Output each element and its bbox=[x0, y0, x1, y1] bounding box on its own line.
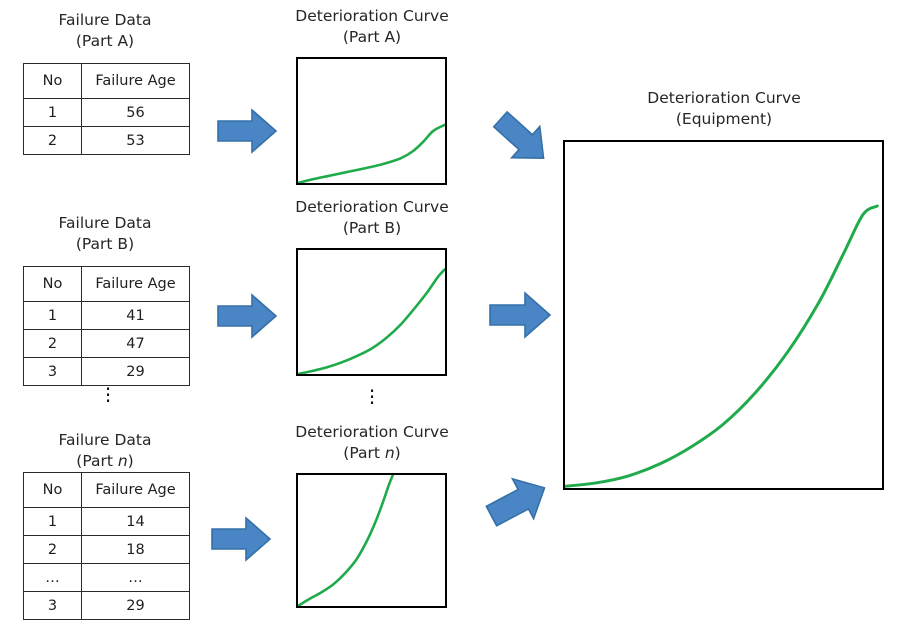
curve-part-a-plot bbox=[298, 59, 445, 183]
cell-no: 3 bbox=[24, 592, 82, 620]
deterioration-curve-equipment-chart bbox=[563, 140, 884, 490]
table-row: 1 56 bbox=[24, 99, 190, 127]
caption-line-2: (Part A) bbox=[23, 31, 187, 52]
caption-line-1: Failure Data bbox=[59, 431, 152, 449]
caption-part-index: n bbox=[118, 452, 128, 470]
column-header-no: No bbox=[24, 267, 82, 302]
vertical-ellipsis-charts: · · · bbox=[352, 388, 392, 406]
table-row: 2 47 bbox=[24, 330, 190, 358]
ellipsis-dot: · bbox=[88, 398, 128, 404]
caption-line-1: Deterioration Curve bbox=[295, 423, 448, 441]
column-header-no: No bbox=[24, 473, 82, 508]
deterioration-curve-line bbox=[298, 475, 393, 606]
cell-age: 14 bbox=[82, 508, 190, 536]
table-row: 2 53 bbox=[24, 127, 190, 155]
arrow-curve-part-a-to-equipment bbox=[487, 110, 553, 172]
curve-part-b-plot bbox=[298, 250, 445, 374]
caption-line-2: (Part A) bbox=[286, 27, 458, 48]
cell-no: 3 bbox=[24, 358, 82, 386]
cell-age: 41 bbox=[82, 302, 190, 330]
arrow-curve-part-b-to-equipment bbox=[487, 290, 553, 340]
failure-data-part-b-caption: Failure Data (Part B) bbox=[23, 213, 187, 255]
column-header-failure-age: Failure Age bbox=[82, 267, 190, 302]
cell-no: 1 bbox=[24, 508, 82, 536]
arrow-part-b-table-to-curve bbox=[216, 293, 278, 339]
caption-part-index: n bbox=[385, 444, 395, 462]
caption-part-prefix: (Part bbox=[343, 444, 385, 462]
cell-age: 56 bbox=[82, 99, 190, 127]
vertical-ellipsis-tables: · · · bbox=[88, 386, 128, 404]
curve-equipment-plot bbox=[565, 142, 882, 488]
failure-data-table-part-b: No Failure Age 1 41 2 47 3 29 bbox=[23, 266, 190, 386]
table-header-row: No Failure Age bbox=[24, 473, 190, 508]
table-row: 3 29 bbox=[24, 592, 190, 620]
failure-data-table-part-n: No Failure Age 1 14 2 18 … … 3 29 bbox=[23, 472, 190, 620]
table-row: 2 18 bbox=[24, 536, 190, 564]
cell-no: 2 bbox=[24, 127, 82, 155]
cell-no: … bbox=[24, 564, 82, 592]
arrow-part-n-table-to-curve bbox=[210, 516, 272, 562]
caption-line-1: Deterioration Curve bbox=[647, 89, 800, 107]
curve-part-a-caption: Deterioration Curve (Part A) bbox=[286, 6, 458, 48]
ellipsis-dot: · bbox=[352, 400, 392, 406]
curve-part-b-caption: Deterioration Curve (Part B) bbox=[286, 197, 458, 239]
caption-line-1: Deterioration Curve bbox=[295, 7, 448, 25]
deterioration-curve-part-a-chart bbox=[296, 57, 447, 185]
table-row: 1 41 bbox=[24, 302, 190, 330]
failure-data-part-a-group: Failure Data (Part A) bbox=[23, 10, 187, 52]
caption-line-1: Failure Data bbox=[59, 214, 152, 232]
cell-no: 2 bbox=[24, 330, 82, 358]
failure-data-part-n-group: Failure Data (Part n) bbox=[23, 430, 187, 472]
caption-line-2: (Equipment) bbox=[638, 109, 810, 130]
caption-line-1: Deterioration Curve bbox=[295, 198, 448, 216]
arrow-curve-part-n-to-equipment bbox=[484, 472, 552, 532]
failure-data-part-a-caption: Failure Data (Part A) bbox=[23, 10, 187, 52]
caption-line-1: Failure Data bbox=[59, 11, 152, 29]
deterioration-curve-part-b-chart bbox=[296, 248, 447, 376]
cell-age: … bbox=[82, 564, 190, 592]
caption-part-suffix: ) bbox=[395, 444, 401, 462]
deterioration-curve-part-n-chart bbox=[296, 473, 447, 608]
table-header-row: No Failure Age bbox=[24, 64, 190, 99]
table-row: … … bbox=[24, 564, 190, 592]
cell-age: 18 bbox=[82, 536, 190, 564]
column-header-failure-age: Failure Age bbox=[82, 64, 190, 99]
table-header-row: No Failure Age bbox=[24, 267, 190, 302]
caption-line-2: (Part B) bbox=[286, 218, 458, 239]
cell-no: 2 bbox=[24, 536, 82, 564]
caption-line-2: (Part n) bbox=[23, 451, 187, 472]
arrow-part-a-table-to-curve bbox=[216, 108, 278, 154]
failure-data-table-part-a: No Failure Age 1 56 2 53 bbox=[23, 63, 190, 155]
caption-part-prefix: (Part bbox=[76, 452, 118, 470]
cell-no: 1 bbox=[24, 302, 82, 330]
cell-age: 29 bbox=[82, 358, 190, 386]
caption-line-2: (Part B) bbox=[23, 234, 187, 255]
failure-data-part-n-caption: Failure Data (Part n) bbox=[23, 430, 187, 472]
cell-no: 1 bbox=[24, 99, 82, 127]
caption-line-2: (Part n) bbox=[286, 443, 458, 464]
deterioration-curve-line bbox=[298, 269, 445, 374]
caption-part-suffix: ) bbox=[128, 452, 134, 470]
failure-data-part-b-group: Failure Data (Part B) bbox=[23, 213, 187, 255]
curve-part-n-plot bbox=[298, 475, 445, 606]
curve-part-n-caption: Deterioration Curve (Part n) bbox=[286, 422, 458, 464]
table-row: 1 14 bbox=[24, 508, 190, 536]
cell-age: 29 bbox=[82, 592, 190, 620]
cell-age: 47 bbox=[82, 330, 190, 358]
deterioration-curve-line bbox=[298, 125, 445, 183]
curve-equipment-caption: Deterioration Curve (Equipment) bbox=[638, 88, 810, 130]
cell-age: 53 bbox=[82, 127, 190, 155]
column-header-failure-age: Failure Age bbox=[82, 473, 190, 508]
column-header-no: No bbox=[24, 64, 82, 99]
deterioration-curve-line bbox=[565, 206, 877, 486]
